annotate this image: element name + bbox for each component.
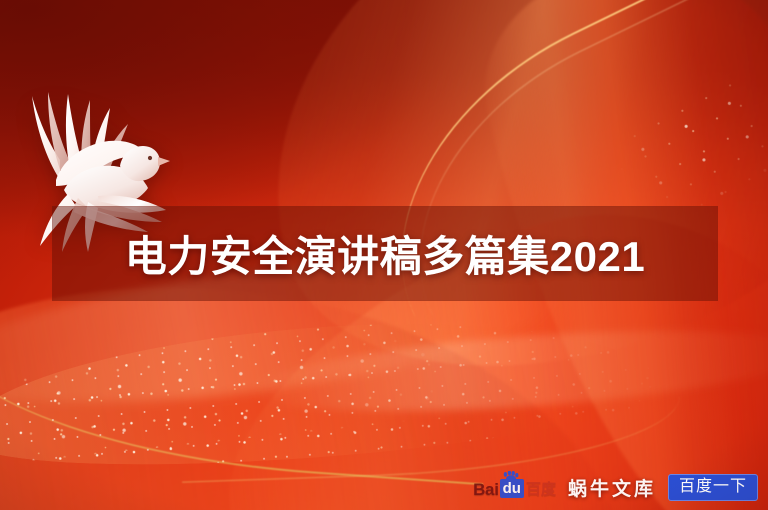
poster-image: 电力安全演讲稿多篇集2021 Bai du 百度 蜗牛文库 百度一下 [0,0,768,510]
vignette-overlay [0,0,768,510]
